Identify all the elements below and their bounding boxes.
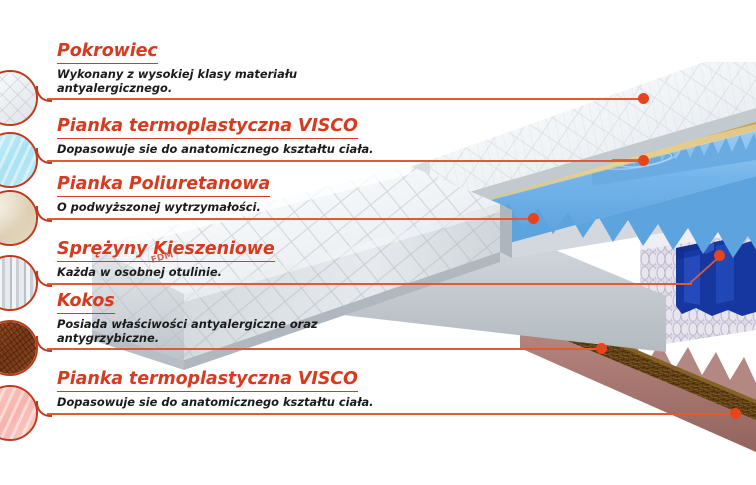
polyurethane-foam-swatch-fill xyxy=(0,192,36,244)
leader-dot-kokos xyxy=(596,343,607,354)
entry-heading-sprezyny: Sprężyny Kieszeniowe xyxy=(57,240,275,262)
entry-poliuretanowa: Pianka Poliuretanowa O podwyższonej wytr… xyxy=(57,175,270,214)
entry-description-visco-bottom: Dopasowuje sie do anatomicznego kształtu… xyxy=(57,395,374,409)
leader-line-pokrowiec xyxy=(47,98,645,100)
entry-heading-visco-bottom: Pianka termoplastyczna VISCO xyxy=(57,370,358,392)
leader-line-visco-top xyxy=(47,160,645,162)
leader-line-poliuretanowa xyxy=(47,218,535,220)
pink-visco-foam-swatch-fill xyxy=(0,387,36,439)
coconut-coir-swatch-fill xyxy=(0,322,36,374)
entry-description-pokrowiec: Wykonany z wysokiej klasy materiału anty… xyxy=(57,67,297,96)
entry-description-visco-top: Dopasowuje sie do anatomicznego kształtu… xyxy=(57,142,374,156)
entry-visco-bottom: Pianka termoplastyczna VISCO Dopasowuje … xyxy=(57,370,374,409)
quilted-cover-swatch-fill xyxy=(0,72,36,124)
entry-heading-visco-top: Pianka termoplastyczna VISCO xyxy=(57,117,358,139)
entry-heading-kokos: Kokos xyxy=(57,292,115,314)
entry-description-poliuretanowa: O podwyższonej wytrzymałości. xyxy=(57,200,270,214)
leader-dot-poliuretanowa xyxy=(528,213,539,224)
leader-dot-visco-bottom xyxy=(730,408,741,419)
leader-line-sprezyny xyxy=(47,283,692,285)
entry-visco-top: Pianka termoplastyczna VISCO Dopasowuje … xyxy=(57,117,374,156)
leader-dot-visco-top xyxy=(638,155,649,166)
entry-heading-pokrowiec: Pokrowiec xyxy=(57,42,158,64)
entry-description-kokos: Posiada właściwości antyalergiczne oraz … xyxy=(57,317,318,346)
entry-sprezyny: Sprężyny Kieszeniowe Każda w osobnej otu… xyxy=(57,240,275,279)
leader-dot-pokrowiec xyxy=(638,93,649,104)
entry-heading-poliuretanowa: Pianka Poliuretanowa xyxy=(57,175,270,197)
entry-description-sprezyny: Każda w osobnej otulinie. xyxy=(57,265,275,279)
infographic-canvas: FDM xyxy=(0,0,756,485)
leader-dot-sprezyny xyxy=(714,250,725,261)
leader-line-kokos xyxy=(47,348,602,350)
blue-visco-foam-swatch-fill xyxy=(0,134,36,186)
entry-kokos: Kokos Posiada właściwości antyalergiczne… xyxy=(57,292,318,345)
entry-pokrowiec: Pokrowiec Wykonany z wysokiej klasy mate… xyxy=(57,42,297,95)
leader-line-visco-bottom xyxy=(47,413,735,415)
pocket-springs-swatch-fill xyxy=(0,257,36,309)
